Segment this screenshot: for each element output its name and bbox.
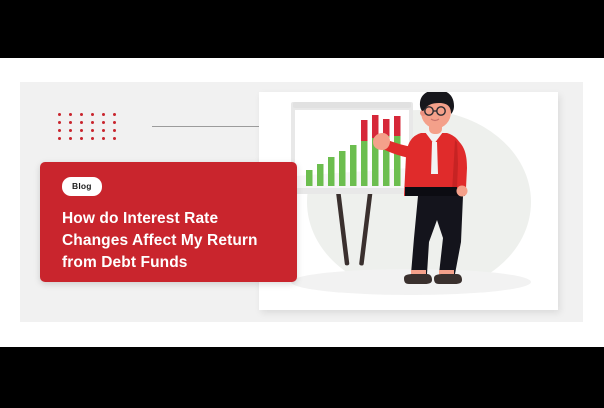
decorative-dot [102, 113, 105, 116]
decorative-dot [91, 121, 94, 124]
decorative-dot [58, 129, 61, 132]
dot-grid [58, 113, 124, 145]
presenter-belt [405, 187, 465, 196]
divider-line [152, 126, 259, 127]
decorative-dot [80, 113, 83, 116]
presenter-hand-right [457, 186, 468, 197]
decorative-dot [69, 121, 72, 124]
decorative-dot [69, 137, 72, 140]
decorative-dot [113, 129, 116, 132]
presenter-with-bar-chart-illustration [259, 92, 558, 310]
board-top-rail [293, 102, 411, 108]
decorative-dot [113, 137, 116, 140]
status-badge: Blog [62, 177, 102, 196]
page-title: How do Interest Rate Changes Affect My R… [62, 208, 275, 274]
blog-title-card[interactable]: Blog How do Interest Rate Changes Affect… [40, 162, 297, 282]
decorative-dot [58, 137, 61, 140]
page-title-line-3: from Debt Funds [62, 252, 275, 274]
presenter-tie [431, 142, 438, 174]
decorative-dot [102, 137, 105, 140]
decorative-dot [58, 113, 61, 116]
decorative-dot [69, 113, 72, 116]
decorative-dot [113, 121, 116, 124]
decorative-dot [58, 121, 61, 124]
decorative-dot [113, 113, 116, 116]
page-title-line-1: How do Interest Rate [62, 208, 275, 230]
decorative-dot [80, 137, 83, 140]
decorative-dot [102, 121, 105, 124]
page-canvas: Blog How do Interest Rate Changes Affect… [0, 58, 604, 347]
decorative-dot [102, 129, 105, 132]
letterbox-top [0, 0, 604, 58]
page-title-line-2: Changes Affect My Return [62, 230, 275, 252]
presenter-shoe-right [434, 274, 462, 284]
decorative-dot [91, 137, 94, 140]
letterbox-bottom [0, 347, 604, 408]
decorative-dot [69, 129, 72, 132]
decorative-dot [91, 129, 94, 132]
decorative-dot [91, 113, 94, 116]
decorative-dot [80, 129, 83, 132]
illustration-card [259, 92, 558, 310]
decorative-dot [80, 121, 83, 124]
presenter-shoe-left [404, 274, 432, 284]
